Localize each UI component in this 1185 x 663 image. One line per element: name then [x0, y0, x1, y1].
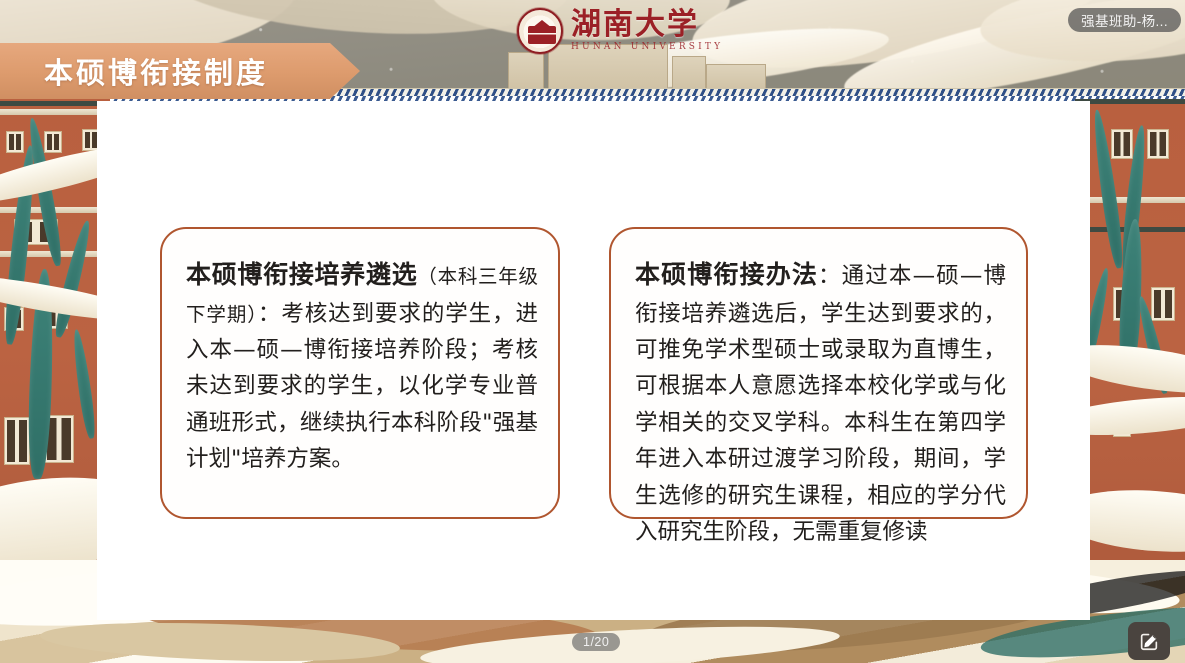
ledge [0, 109, 110, 115]
right-illustration-panel [1075, 99, 1185, 560]
window [4, 417, 30, 465]
university-name-en: HUNAN UNIVERSITY [571, 42, 723, 52]
content-box-heading: 本硕博衔接培养遴选 [186, 260, 417, 289]
content-box-body: ：通过本—硕—博衔接培养遴选后，学生达到要求的，可推免学术型硕士或录取为直博生，… [635, 263, 1006, 545]
pen-edit-icon [1138, 630, 1160, 652]
slide-title-banner: 本硕博衔接制度 [0, 43, 360, 99]
content-paragraph: 本硕博衔接办法：通过本—硕—博衔接培养遴选后，学生达到要求的，可推免学术型硕士或… [635, 255, 1006, 551]
window [1151, 287, 1175, 321]
window [44, 131, 62, 153]
content-box-row: 本硕博衔接培养遴选（本科三年级下学期）：考核达到要求的学生，进入本—硕—博衔接培… [160, 227, 1028, 519]
window [1111, 129, 1133, 159]
content-box-heading: 本硕博衔接办法 [635, 260, 818, 289]
roof-band [0, 101, 110, 106]
roof-band [1075, 99, 1185, 104]
building-silhouette [508, 52, 544, 92]
building-silhouette [672, 56, 706, 92]
content-box-cultivation-method: 本硕博衔接办法：通过本—硕—博衔接培养遴选后，学生达到要求的，可推免学术型硕士或… [609, 227, 1028, 519]
content-box-body: ：考核达到要求的学生，进入本—硕—博衔接培养阶段；考核未达到要求的学生，以化学专… [186, 301, 538, 473]
content-paragraph: 本硕博衔接培养遴选（本科三年级下学期）：考核达到要求的学生，进入本—硕—博衔接培… [186, 255, 538, 478]
left-illustration-panel [0, 99, 110, 560]
annotate-button[interactable] [1128, 622, 1170, 660]
university-logo: 湖南大学 HUNAN UNIVERSITY [517, 8, 723, 54]
content-box-cultivation-selection: 本硕博衔接培养遴选（本科三年级下学期）：考核达到要求的学生，进入本—硕—博衔接培… [160, 227, 560, 519]
university-name-cn: 湖南大学 [571, 10, 723, 40]
user-name-badge[interactable]: 强基班助-杨... [1068, 8, 1181, 32]
window [1147, 129, 1169, 159]
page-title: 本硕博衔接制度 [0, 50, 268, 92]
university-seal-icon [517, 8, 563, 54]
window [6, 131, 24, 153]
presentation-viewer: 湖南大学 HUNAN UNIVERSITY 本硕博衔接制度 本硕博衔接培养遴选（… [0, 0, 1185, 663]
slide-content-panel: 本硕博衔接培养遴选（本科三年级下学期）：考核达到要求的学生，进入本—硕—博衔接培… [97, 101, 1090, 620]
page-indicator: 1/20 [572, 633, 620, 651]
